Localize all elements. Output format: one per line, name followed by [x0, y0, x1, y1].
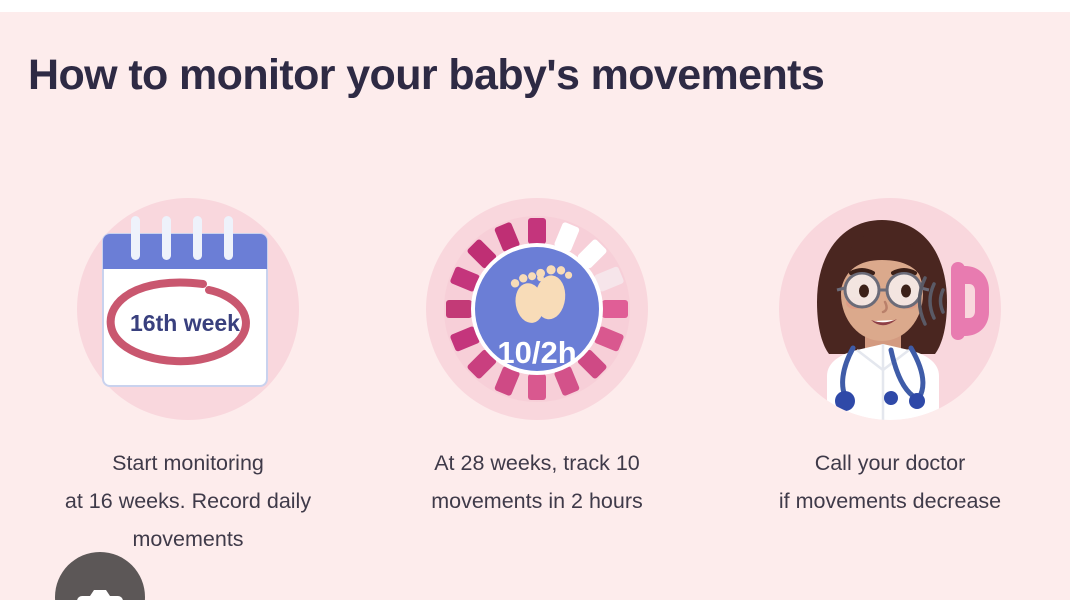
calendar-16th-week-icon: 16th week [77, 198, 299, 420]
doctor-phone-call-icon [779, 198, 1001, 420]
infographic-canvas: How to monitor your baby's movements [0, 12, 1070, 600]
eye-icon [859, 285, 869, 298]
camera-button[interactable] [55, 552, 145, 600]
timer-count-label: 10/2h [497, 335, 576, 370]
stethoscope-bell-icon [835, 391, 855, 411]
step-card-3: Call your doctor if movements decrease [720, 198, 1060, 520]
camera-icon [77, 586, 123, 600]
eye-icon [901, 285, 911, 298]
step-caption-1: Start monitoring at 16 weeks. Record dai… [18, 444, 358, 558]
doctor-illustration [779, 198, 1001, 420]
calendar-week-label: 16th week [130, 310, 240, 336]
step-caption-2: At 28 weeks, track 10 movements in 2 hou… [367, 444, 707, 520]
calendar-illustration: 16th week [77, 198, 299, 420]
step-card-2: 10/2h At 28 weeks, track 10 movements in… [367, 198, 707, 520]
screenshot-root: How to monitor your baby's movements [0, 0, 1075, 600]
page-title: How to monitor your baby's movements [28, 50, 1048, 100]
step-card-1: 16th week Start monitoring at 16 weeks. … [18, 198, 358, 558]
timer-dial-illustration: 10/2h [426, 198, 648, 420]
phone-handset-icon [951, 262, 989, 340]
step-caption-3: Call your doctor if movements decrease [720, 444, 1060, 520]
baby-footprints-timer-icon: 10/2h [426, 198, 648, 420]
